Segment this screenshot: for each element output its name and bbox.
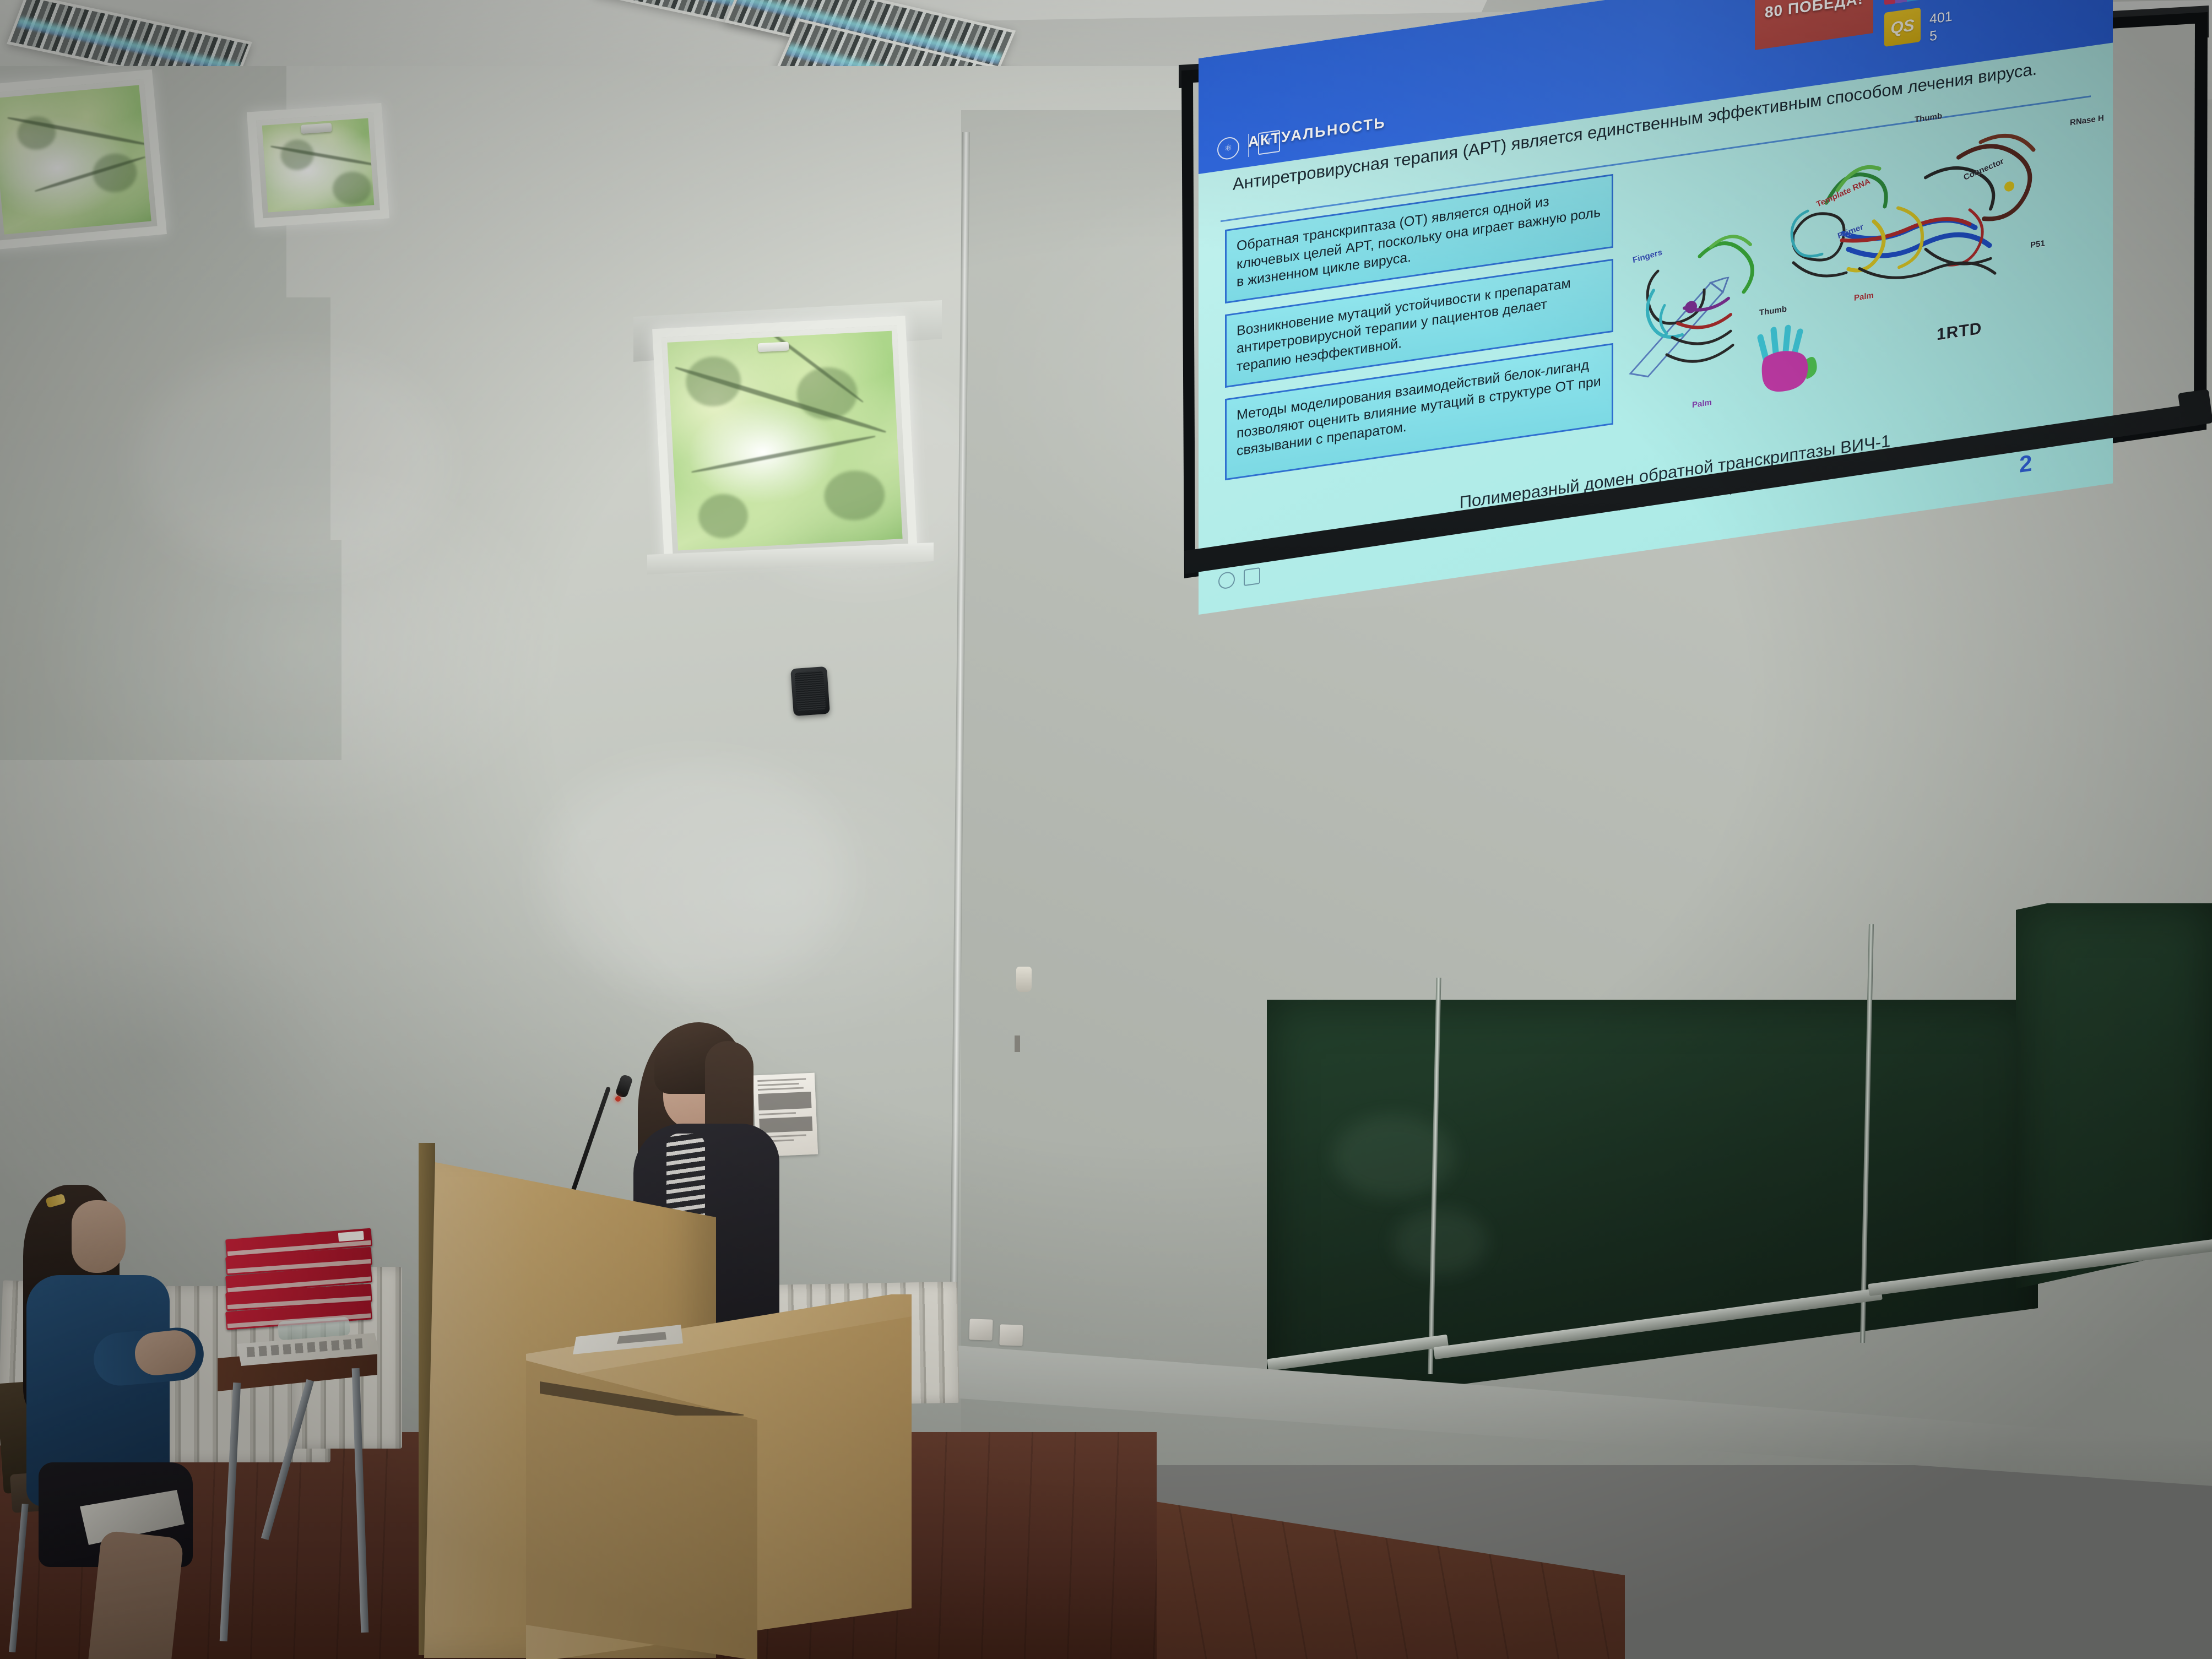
window-glass — [667, 331, 902, 551]
window-right — [652, 316, 918, 565]
window-latch[interactable] — [758, 341, 789, 352]
stack-of-red-folders — [226, 1234, 372, 1330]
window-left — [0, 69, 167, 250]
ranking-logos: QS — [1884, 0, 1921, 47]
slide-footer-logos — [1218, 567, 1260, 590]
slide-content: ⚛ Т АКТУАЛЬНОСТЬ 80 ПОБЕДА! QS 801-1000 — [1199, 0, 2113, 615]
microphone-led-icon — [615, 1096, 621, 1102]
ranking-numbers: 801-1000 12-15 401 5 — [1929, 0, 1988, 45]
footer-seal-icon — [1218, 571, 1235, 590]
victory-badge-label: 80 ПОБЕДА! — [1765, 0, 1863, 21]
figure-label-palm-bottom: Palm — [1692, 398, 1712, 410]
folder-label — [338, 1231, 364, 1242]
seated-person — [11, 1181, 253, 1659]
hand-schematic-icon — [1754, 319, 1820, 397]
side-table — [218, 1344, 377, 1652]
person-face — [72, 1200, 126, 1273]
slide-page-number: 2 — [2019, 450, 2032, 478]
lecture-hall-photo: ⚛ Т АКТУАЛЬНОСТЬ 80 ПОБЕДА! QS 801-1000 — [0, 0, 2212, 1659]
bullet-list: Обратная транскриптаза (ОТ) является одн… — [1225, 174, 1613, 491]
speaker-grill — [795, 670, 826, 712]
the-ranking-logo-icon — [1884, 0, 1921, 5]
power-outlet[interactable] — [969, 1319, 993, 1340]
projected-slide: ⚛ Т АКТУАЛЬНОСТЬ 80 ПОБЕДА! QS 801-1000 — [1199, 0, 2113, 615]
window-middle — [247, 103, 389, 228]
qs-ranking-logo-icon: QS — [1884, 8, 1921, 47]
protein-structure-figure: Thumb Template RNA Primer Connector RNas… — [1623, 93, 2107, 471]
figure-label-pdb-code: 1RTD — [1937, 319, 1982, 345]
person-legs — [86, 1530, 184, 1659]
wall-speaker — [790, 666, 830, 716]
screen-bottom-knob[interactable] — [2178, 389, 2212, 427]
motion-sensor — [1016, 967, 1032, 992]
wall-nail — [1015, 1035, 1020, 1052]
footer-monogram-icon — [1244, 567, 1260, 586]
window-glass — [0, 85, 151, 234]
power-outlet[interactable] — [999, 1324, 1023, 1346]
